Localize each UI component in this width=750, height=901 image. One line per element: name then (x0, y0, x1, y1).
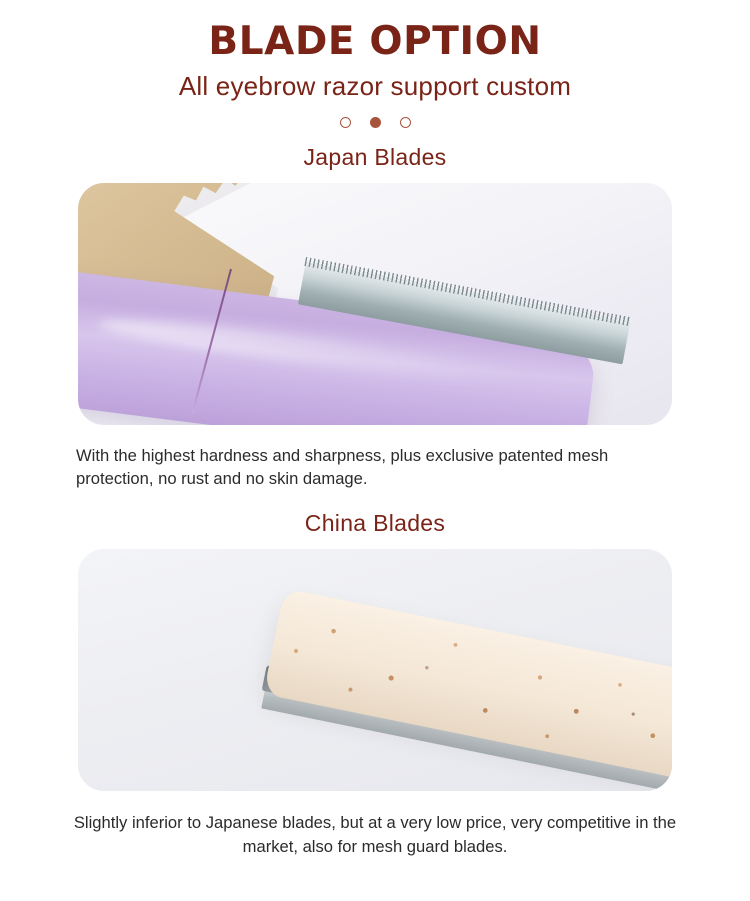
product-image-china-blades (78, 549, 672, 791)
page-subtitle: All eyebrow razor support custom (0, 72, 750, 101)
page-title: BLADE OPTION (0, 22, 750, 61)
carousel-dot-3[interactable] (400, 117, 411, 128)
description-china-text: Slightly inferior to Japanese blades, bu… (68, 811, 682, 859)
section-heading-japan-blades: Japan Blades (0, 144, 750, 171)
carousel-dots (0, 116, 750, 130)
page-header: BLADE OPTION All eyebrow razor support c… (0, 0, 750, 101)
product-image-japan-blades (78, 183, 672, 425)
section-heading-china-blades: China Blades (0, 510, 750, 537)
description-china-blades: Slightly inferior to Japanese blades, bu… (68, 811, 682, 859)
carousel-dot-1[interactable] (340, 117, 351, 128)
description-japan-blades: With the highest hardness and sharpness,… (68, 444, 682, 492)
carousel-dot-2-active[interactable] (370, 117, 381, 128)
description-japan-text: With the highest hardness and sharpness,… (76, 444, 682, 492)
product-detail-page: BLADE OPTION All eyebrow razor support c… (0, 0, 750, 901)
